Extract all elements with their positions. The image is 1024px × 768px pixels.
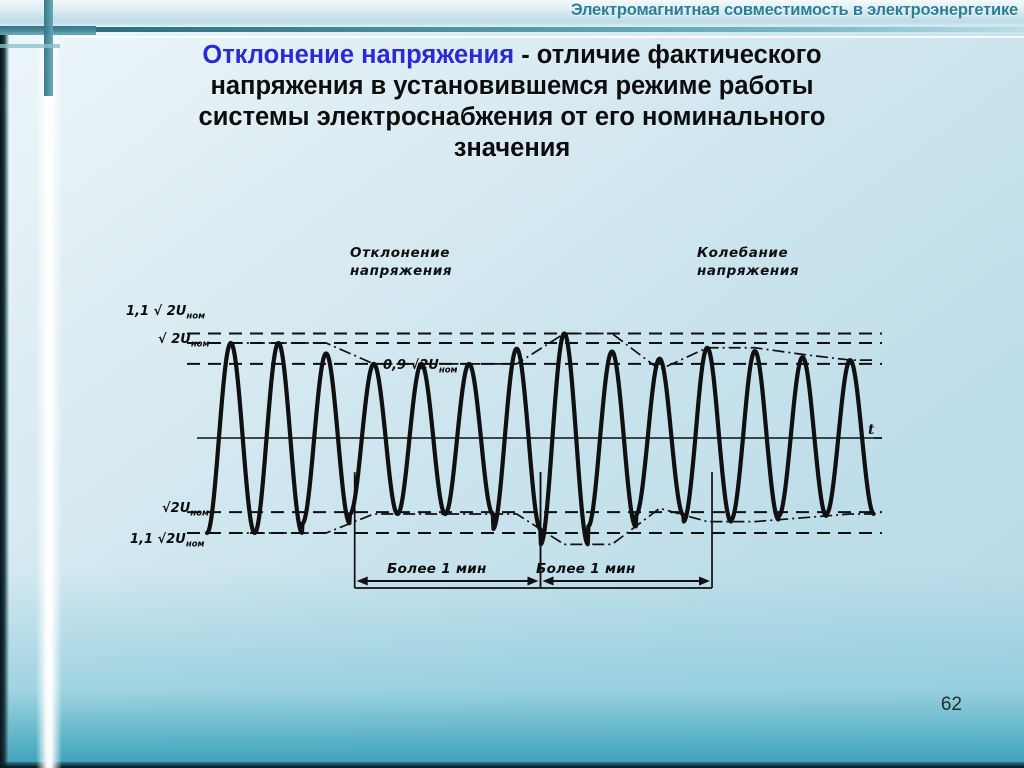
title-line-1: Отклонение напряжения - отличие фактичес… bbox=[62, 40, 962, 71]
waveform-svg bbox=[112, 236, 912, 636]
left-border-edge bbox=[0, 0, 9, 768]
page-title: Отклонение напряжения - отличие фактичес… bbox=[62, 40, 962, 164]
title-line-2: напряжения в установившемся режиме работ… bbox=[62, 71, 962, 102]
left-light-stripe bbox=[36, 0, 62, 768]
title-line-1-rest: - отличие фактического bbox=[514, 41, 822, 69]
header-rule bbox=[0, 27, 1024, 32]
title-line-3: системы электроснабжения от его номиналь… bbox=[62, 102, 962, 133]
page-number: 62 bbox=[941, 694, 962, 716]
corner-cross-vertical bbox=[44, 0, 53, 96]
voltage-waveform-figure: Отклонение напряжения Колебание напряжен… bbox=[112, 236, 912, 636]
slide-canvas: Электромагнитная совместимость в электро… bbox=[0, 0, 1024, 768]
header-frame-line bbox=[62, 36, 1024, 38]
header-title: Электромагнитная совместимость в электро… bbox=[571, 1, 1018, 20]
corner-cross-accent bbox=[0, 44, 60, 48]
bottom-border-edge bbox=[0, 762, 1024, 768]
title-accent-term: Отклонение напряжения bbox=[202, 41, 514, 69]
title-line-4: значения bbox=[62, 133, 962, 164]
